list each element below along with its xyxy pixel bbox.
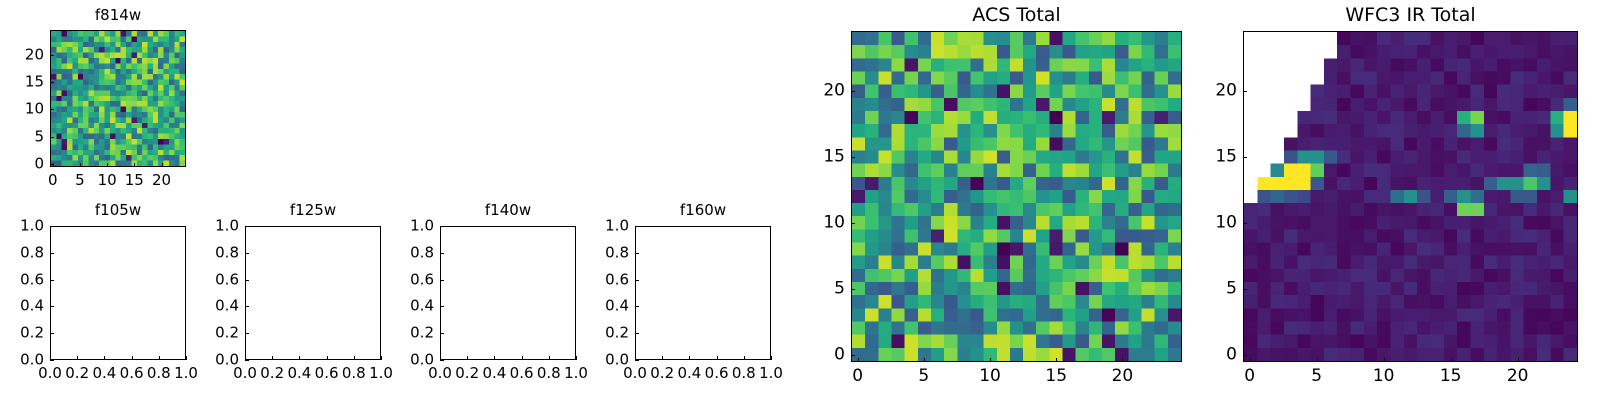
xtick-f160w-2 (689, 356, 690, 360)
xticklabel-f140w-3: 0.6 (510, 366, 534, 381)
yticklabel-f105w-0: 0.0 (20, 353, 44, 368)
yticklabel-f125w-1: 0.2 (215, 326, 239, 341)
xticklabel-f105w-4: 0.8 (147, 366, 171, 381)
xticklabel-wfc3_ir_total-2: 10 (1373, 368, 1395, 385)
xtick-f160w-4 (744, 356, 745, 360)
xticklabel-f125w-3: 0.6 (315, 366, 339, 381)
ytick-f814w-3 (50, 82, 54, 83)
xticklabel-f160w-1: 0.2 (650, 366, 674, 381)
xticklabel-f814w-4: 20 (152, 173, 171, 188)
xtick-f105w-3 (132, 356, 133, 360)
xtick-f105w-1 (77, 356, 78, 360)
xticklabel-wfc3_ir_total-0: 0 (1244, 368, 1255, 385)
xticklabel-f160w-2: 0.4 (677, 366, 701, 381)
yticklabel-f140w-3: 0.6 (410, 272, 434, 287)
ytick-f125w-3 (245, 280, 249, 281)
yticklabel-f160w-2: 0.4 (605, 299, 629, 314)
yticklabel-acs_total-2: 10 (823, 214, 845, 231)
ytick-acs_total-0 (851, 355, 855, 356)
xticklabel-f140w-4: 0.8 (537, 366, 561, 381)
ytick-f105w-0 (50, 360, 54, 361)
xticklabel-acs_total-2: 10 (979, 368, 1001, 385)
ytick-f125w-1 (245, 333, 249, 334)
ytick-f105w-5 (50, 226, 54, 227)
xticklabel-f160w-3: 0.6 (705, 366, 729, 381)
xticklabel-f814w-2: 10 (98, 173, 117, 188)
xtick-f814w-4 (162, 163, 163, 167)
yticklabel-f160w-3: 0.6 (605, 272, 629, 287)
ytick-acs_total-2 (851, 223, 855, 224)
ytick-wfc3_ir_total-3 (1243, 157, 1247, 158)
ytick-f814w-2 (50, 109, 54, 110)
heatmap-image-wfc3_ir_total (1244, 32, 1577, 361)
ytick-wfc3_ir_total-0 (1243, 355, 1247, 356)
xticklabel-f105w-1: 0.2 (65, 366, 89, 381)
ytick-f140w-1 (440, 333, 444, 334)
ytick-f105w-2 (50, 306, 54, 307)
yticklabel-f125w-5: 1.0 (215, 219, 239, 234)
axes-f814w (50, 30, 186, 167)
yticklabel-f140w-4: 0.8 (410, 245, 434, 260)
yticklabel-wfc3_ir_total-0: 0 (1226, 347, 1237, 364)
yticklabel-wfc3_ir_total-3: 15 (1215, 148, 1237, 165)
yticklabel-acs_total-0: 0 (834, 347, 845, 364)
xtick-f125w-4 (354, 356, 355, 360)
yticklabel-wfc3_ir_total-1: 5 (1226, 281, 1237, 298)
yticklabel-wfc3_ir_total-2: 10 (1215, 214, 1237, 231)
xticklabel-wfc3_ir_total-3: 15 (1440, 368, 1462, 385)
ytick-f125w-2 (245, 306, 249, 307)
xtick-f125w-1 (272, 356, 273, 360)
ytick-f105w-1 (50, 333, 54, 334)
yticklabel-f105w-2: 0.4 (20, 299, 44, 314)
ytick-f140w-5 (440, 226, 444, 227)
xtick-f814w-1 (80, 163, 81, 167)
xtick-f105w-4 (159, 356, 160, 360)
panel-wfc3_ir_total: WFC3 IR Total0510152005101520 (1173, 1, 1600, 402)
ytick-f814w-0 (50, 164, 54, 165)
ytick-f160w-4 (635, 253, 639, 254)
xticklabel-wfc3_ir_total-4: 20 (1507, 368, 1529, 385)
panel-f814w: f814w0510152005101520 (0, 0, 216, 207)
panel-title-f160w: f160w (635, 203, 771, 218)
yticklabel-f160w-5: 1.0 (605, 219, 629, 234)
xtick-f814w-2 (107, 163, 108, 167)
axes-f105w (50, 226, 186, 360)
xticklabel-acs_total-3: 15 (1045, 368, 1067, 385)
ytick-f140w-3 (440, 280, 444, 281)
yticklabel-f814w-3: 15 (25, 75, 44, 90)
xtick-f140w-3 (522, 356, 523, 360)
panel-title-f140w: f140w (440, 203, 576, 218)
panel-title-f105w: f105w (50, 203, 186, 218)
xticklabel-acs_total-0: 0 (852, 368, 863, 385)
axes-f140w (440, 226, 576, 360)
xtick-wfc3_ir_total-3 (1451, 358, 1452, 362)
yticklabel-f140w-1: 0.2 (410, 326, 434, 341)
xtick-wfc3_ir_total-4 (1518, 358, 1519, 362)
yticklabel-f140w-5: 1.0 (410, 219, 434, 234)
xticklabel-f160w-4: 0.8 (732, 366, 756, 381)
xtick-f160w-3 (717, 356, 718, 360)
ytick-f814w-1 (50, 137, 54, 138)
xtick-acs_total-2 (990, 358, 991, 362)
panel-title-f814w: f814w (50, 8, 186, 23)
xticklabel-f125w-2: 0.4 (287, 366, 311, 381)
xticklabel-f105w-2: 0.4 (92, 366, 116, 381)
xtick-f140w-1 (467, 356, 468, 360)
yticklabel-acs_total-3: 15 (823, 148, 845, 165)
matplotlib-figure: f814w0510152005101520f105w0.00.20.40.60.… (0, 0, 1600, 400)
xtick-acs_total-1 (924, 358, 925, 362)
ytick-acs_total-4 (851, 91, 855, 92)
yticklabel-f125w-4: 0.8 (215, 245, 239, 260)
ytick-acs_total-3 (851, 157, 855, 158)
axes-f160w (635, 226, 771, 360)
yticklabel-f160w-4: 0.8 (605, 245, 629, 260)
yticklabel-f105w-1: 0.2 (20, 326, 44, 341)
yticklabel-f814w-0: 0 (34, 157, 44, 172)
ytick-f140w-2 (440, 306, 444, 307)
heatmap-image-acs_total (852, 32, 1181, 361)
yticklabel-f140w-0: 0.0 (410, 353, 434, 368)
ytick-acs_total-1 (851, 289, 855, 290)
xticklabel-f140w-2: 0.4 (482, 366, 506, 381)
ytick-f160w-2 (635, 306, 639, 307)
xticklabel-f814w-0: 0 (48, 173, 58, 188)
ytick-f160w-5 (635, 226, 639, 227)
axes-acs_total (851, 31, 1182, 362)
xticklabel-wfc3_ir_total-1: 5 (1311, 368, 1322, 385)
yticklabel-f814w-1: 5 (34, 129, 44, 144)
xticklabel-f125w-1: 0.2 (260, 366, 284, 381)
yticklabel-f105w-4: 0.8 (20, 245, 44, 260)
xticklabel-f160w-5: 1.0 (759, 366, 783, 381)
yticklabel-f814w-2: 10 (25, 102, 44, 117)
ytick-f105w-3 (50, 280, 54, 281)
yticklabel-f125w-3: 0.6 (215, 272, 239, 287)
yticklabel-f140w-2: 0.4 (410, 299, 434, 314)
xtick-f125w-3 (327, 356, 328, 360)
xtick-acs_total-0 (858, 358, 859, 362)
ytick-wfc3_ir_total-4 (1243, 91, 1247, 92)
xtick-f160w-5 (771, 356, 772, 360)
xtick-f105w-2 (104, 356, 105, 360)
xticklabel-f140w-1: 0.2 (455, 366, 479, 381)
panel-title-acs_total: ACS Total (851, 6, 1182, 25)
yticklabel-f160w-1: 0.2 (605, 326, 629, 341)
ytick-f160w-1 (635, 333, 639, 334)
ytick-f814w-4 (50, 55, 54, 56)
xticklabel-acs_total-1: 5 (918, 368, 929, 385)
yticklabel-wfc3_ir_total-4: 20 (1215, 82, 1237, 99)
axes-wfc3_ir_total (1243, 31, 1578, 362)
yticklabel-f160w-0: 0.0 (605, 353, 629, 368)
yticklabel-f105w-3: 0.6 (20, 272, 44, 287)
ytick-f160w-3 (635, 280, 639, 281)
heatmap-image-f814w (51, 31, 185, 166)
panel-title-wfc3_ir_total: WFC3 IR Total (1243, 6, 1578, 25)
axes-f125w (245, 226, 381, 360)
xtick-f160w-1 (662, 356, 663, 360)
yticklabel-f105w-5: 1.0 (20, 219, 44, 234)
yticklabel-acs_total-1: 5 (834, 281, 845, 298)
ytick-f105w-4 (50, 253, 54, 254)
xticklabel-f125w-4: 0.8 (342, 366, 366, 381)
xticklabel-f814w-1: 5 (75, 173, 85, 188)
ytick-wfc3_ir_total-2 (1243, 223, 1247, 224)
ytick-f125w-5 (245, 226, 249, 227)
panel-title-f125w: f125w (245, 203, 381, 218)
xticklabel-f814w-3: 15 (125, 173, 144, 188)
xtick-f125w-2 (299, 356, 300, 360)
ytick-f125w-0 (245, 360, 249, 361)
ytick-f125w-4 (245, 253, 249, 254)
xtick-wfc3_ir_total-1 (1317, 358, 1318, 362)
xtick-acs_total-3 (1056, 358, 1057, 362)
xtick-f140w-2 (494, 356, 495, 360)
yticklabel-f125w-2: 0.4 (215, 299, 239, 314)
xtick-acs_total-4 (1122, 358, 1123, 362)
yticklabel-f125w-0: 0.0 (215, 353, 239, 368)
panel-f160w: f160w0.00.20.40.60.81.00.00.20.40.60.81.… (565, 196, 801, 400)
xtick-f814w-3 (134, 163, 135, 167)
xtick-wfc3_ir_total-0 (1250, 358, 1251, 362)
ytick-f160w-0 (635, 360, 639, 361)
panel-acs_total: ACS Total0510152005101520 (781, 1, 1212, 402)
xticklabel-acs_total-4: 20 (1112, 368, 1134, 385)
yticklabel-f814w-4: 20 (25, 47, 44, 62)
xtick-f140w-4 (549, 356, 550, 360)
ytick-f140w-4 (440, 253, 444, 254)
xticklabel-f105w-3: 0.6 (120, 366, 144, 381)
xtick-wfc3_ir_total-2 (1384, 358, 1385, 362)
yticklabel-acs_total-4: 20 (823, 82, 845, 99)
ytick-f140w-0 (440, 360, 444, 361)
ytick-wfc3_ir_total-1 (1243, 289, 1247, 290)
